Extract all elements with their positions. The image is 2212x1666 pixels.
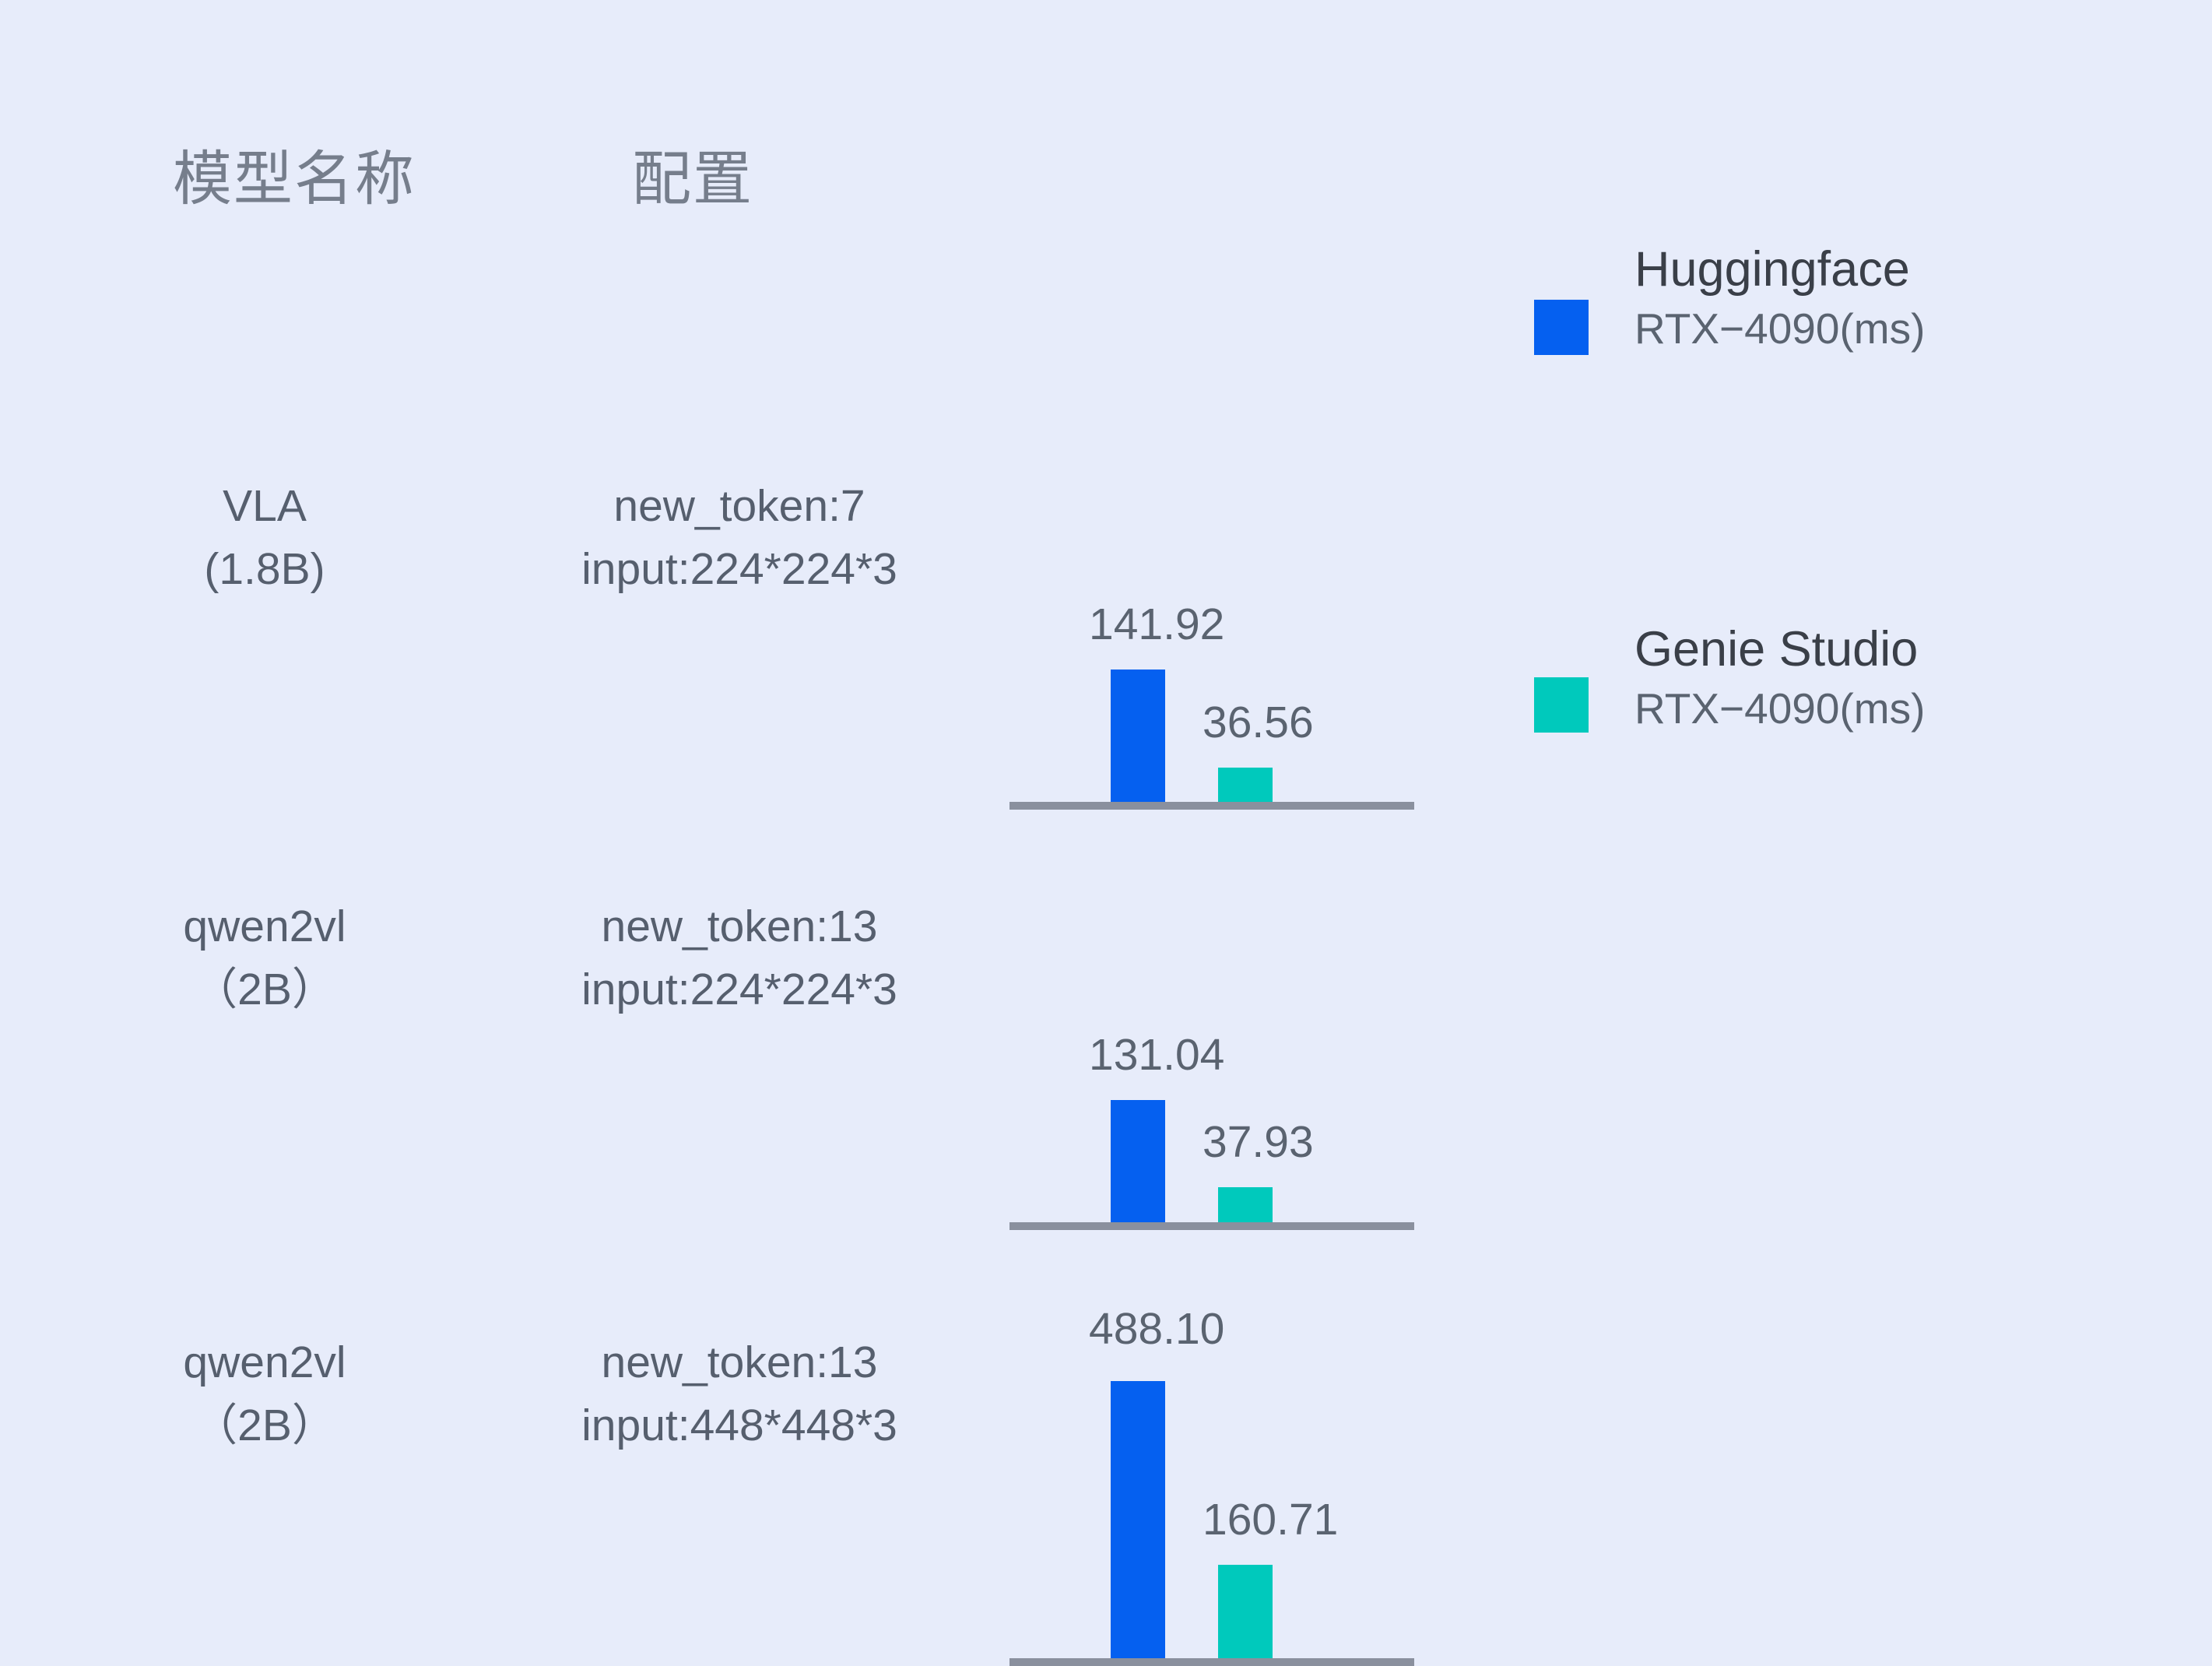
cell-model-name: qwen2vl （2B） [140, 1331, 389, 1457]
bar-huggingface[interactable] [1111, 1381, 1165, 1666]
config-line1: new_token:7 [483, 475, 996, 538]
legend-item-huggingface[interactable]: Huggingface RTX−4090(ms) [1532, 241, 2077, 428]
bar-genie-studio[interactable] [1218, 768, 1273, 802]
bar-genie-studio[interactable] [1218, 1565, 1273, 1658]
cell-model-name: VLA (1.8B) [140, 475, 389, 601]
bar-value-genie-studio: 37.93 [1203, 1116, 1314, 1168]
bar-genie-studio[interactable] [1218, 1187, 1273, 1222]
chart-legend: Huggingface RTX−4090(ms) Genie Studio RT… [1532, 241, 2077, 615]
legend-subtitle-huggingface: RTX−4090(ms) [1634, 304, 2039, 353]
model-name-line1: qwen2vl [140, 1331, 389, 1394]
bar-chart-group: 488.10 160.71 [1009, 1292, 1414, 1666]
config-line2: input:448*448*3 [483, 1394, 996, 1457]
legend-label-genie-studio: Genie Studio RTX−4090(ms) [1634, 621, 2039, 733]
legend-swatch-huggingface [1534, 300, 1589, 355]
table-row: qwen2vl （2B） new_token:13 input:224*224*… [0, 856, 2212, 1230]
bar-chart-group: 141.92 36.56 [1009, 436, 1414, 810]
axis-baseline [1009, 802, 1414, 810]
cell-config: new_token:13 input:448*448*3 [483, 1331, 996, 1457]
cell-model-name: qwen2vl （2B） [140, 895, 389, 1021]
cell-config: new_token:7 input:224*224*3 [483, 475, 996, 601]
cell-config: new_token:13 input:224*224*3 [483, 895, 996, 1021]
table-row: qwen2vl （2B） new_token:13 input:448*448*… [0, 1292, 2212, 1666]
legend-swatch-genie-studio [1534, 677, 1589, 733]
model-name-line1: VLA [140, 475, 389, 538]
axis-baseline [1009, 1658, 1414, 1666]
bar-value-huggingface: 131.04 [1089, 1029, 1224, 1081]
model-name-line2: （2B） [140, 958, 389, 1021]
column-header-config: 配置 [632, 131, 753, 216]
bar-value-huggingface: 488.10 [1089, 1303, 1224, 1355]
bar-chart-group: 131.04 37.93 [1009, 856, 1414, 1230]
bar-value-huggingface: 141.92 [1089, 599, 1224, 650]
config-line2: input:224*224*3 [483, 958, 996, 1021]
model-name-line2: (1.8B) [140, 538, 389, 601]
bar-value-genie-studio: 160.71 [1203, 1494, 1338, 1545]
config-line2: input:224*224*3 [483, 538, 996, 601]
column-header-model-name: 模型名称 [173, 131, 416, 216]
chart-page: 模型名称 配置 VLA (1.8B) new_token:7 input:224… [0, 0, 2212, 1638]
model-name-line1: qwen2vl [140, 895, 389, 958]
legend-title-huggingface: Huggingface [1634, 241, 2039, 297]
legend-item-genie-studio[interactable]: Genie Studio RTX−4090(ms) [1532, 428, 2077, 615]
bar-huggingface[interactable] [1111, 1100, 1165, 1222]
model-name-line2: （2B） [140, 1394, 389, 1457]
axis-baseline [1009, 1222, 1414, 1230]
bar-value-genie-studio: 36.56 [1203, 697, 1314, 748]
legend-title-genie-studio: Genie Studio [1634, 621, 2039, 677]
legend-subtitle-genie-studio: RTX−4090(ms) [1634, 684, 2039, 733]
config-line1: new_token:13 [483, 1331, 996, 1394]
bar-huggingface[interactable] [1111, 670, 1165, 802]
legend-label-huggingface: Huggingface RTX−4090(ms) [1634, 241, 2039, 353]
config-line1: new_token:13 [483, 895, 996, 958]
